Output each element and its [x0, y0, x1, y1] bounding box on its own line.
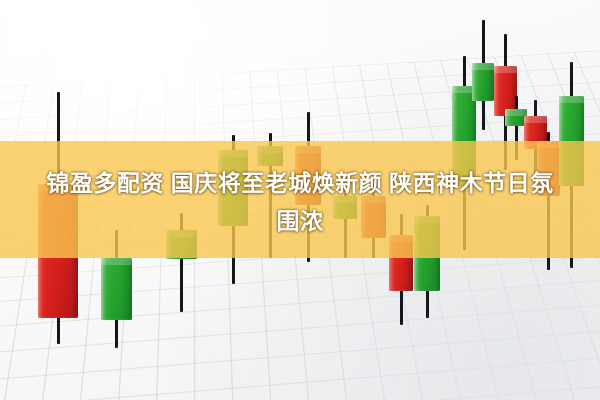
candle-body-up	[101, 258, 132, 320]
candle-body-up	[472, 63, 494, 101]
candle-body-highlight	[524, 116, 547, 123]
candle-12	[472, 20, 494, 130]
candle-body-up	[257, 146, 283, 166]
candle-body-down	[389, 235, 413, 291]
candle-wick	[515, 96, 518, 160]
candle-body-highlight	[559, 96, 584, 103]
headline-line-1: 锦盈多配资 国庆将至老城焕新颜 陕西神木节日氛	[0, 164, 600, 202]
candle-body-highlight	[537, 141, 560, 148]
candle-body-highlight	[472, 63, 494, 70]
banner-image: 锦盈多配资 国庆将至老城焕新颜 陕西神木节日氛 围浓	[0, 0, 600, 400]
candle-body-highlight	[218, 150, 248, 157]
candle-body-highlight	[295, 146, 321, 153]
candle-body-highlight	[101, 258, 132, 265]
candle-body-highlight	[494, 66, 517, 73]
headline-line-2: 围浓	[0, 202, 600, 240]
candle-2	[101, 230, 132, 348]
candle-body-highlight	[257, 146, 283, 153]
